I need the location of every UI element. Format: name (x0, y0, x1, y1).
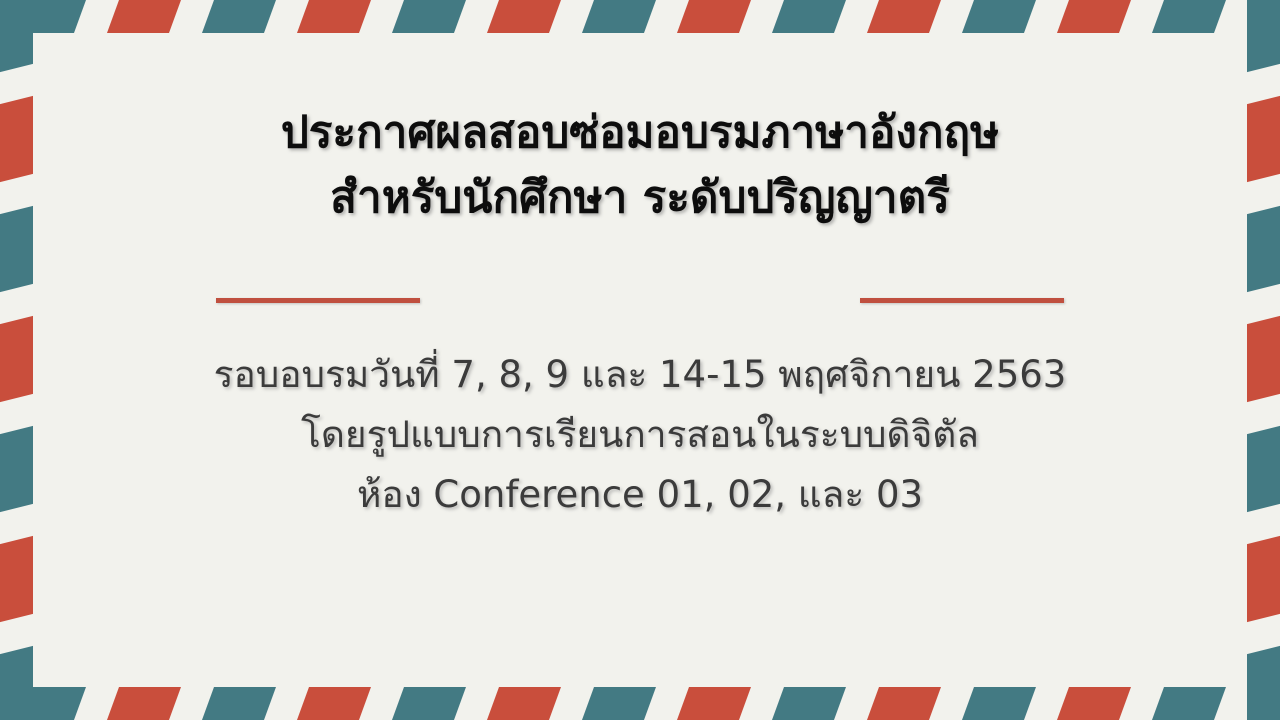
slide-canvas: ประกาศผลสอบซ่อมอบรมภาษาอังกฤษ สำหรับนักศ… (0, 0, 1280, 720)
divider-left (216, 298, 420, 303)
body-line-2: โดยรูปแบบการเรียนการสอนในระบบดิจิตัล (214, 405, 1067, 465)
title-line-1: ประกาศผลสอบซ่อมอบรมภาษาอังกฤษ (281, 100, 999, 165)
body-line-1: รอบอบรมวันที่ 7, 8, 9 และ 14-15 พฤศจิกาย… (214, 345, 1067, 405)
body-text: รอบอบรมวันที่ 7, 8, 9 และ 14-15 พฤศจิกาย… (214, 345, 1067, 525)
page-title: ประกาศผลสอบซ่อมอบรมภาษาอังกฤษ สำหรับนักศ… (281, 100, 999, 230)
title-line-2: สำหรับนักศึกษา ระดับปริญญาตรี (281, 165, 999, 230)
slide-content: ประกาศผลสอบซ่อมอบรมภาษาอังกฤษ สำหรับนักศ… (0, 0, 1280, 720)
divider-row (0, 298, 1280, 303)
body-line-3: ห้อง Conference 01, 02, และ 03 (214, 465, 1067, 525)
divider-right (860, 298, 1064, 303)
